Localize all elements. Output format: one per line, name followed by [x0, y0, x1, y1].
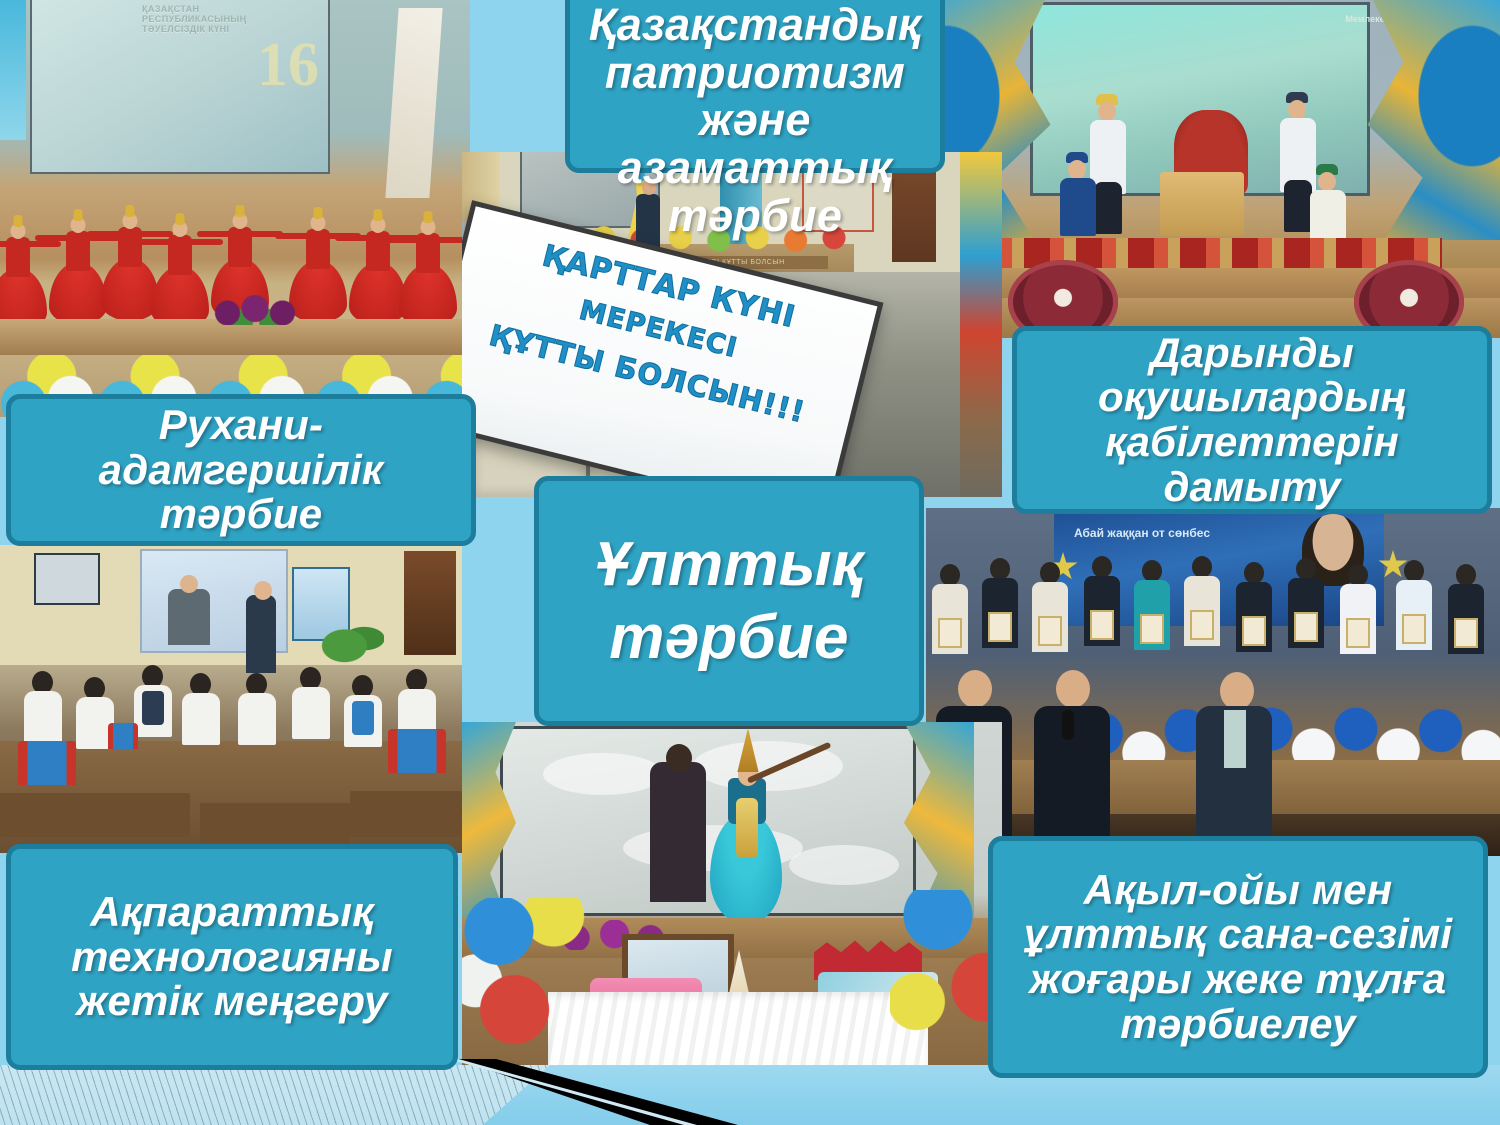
- card-talented-label: Дарынды оқушылардың қабілеттерін дамыту: [1027, 331, 1477, 509]
- projector-screen-dombra: [500, 726, 916, 916]
- projector-number: 16: [257, 30, 319, 101]
- presentation-slide: ҚАЗАҚСТАН РЕСПУБЛИКАСЫНЫҢ ТӘУЕЛСІЗДІК КҮ…: [0, 0, 1500, 1125]
- desk: [0, 793, 190, 837]
- photo-edge-strip: [960, 152, 1002, 497]
- award-banner-text: Абай жаққан от сөнбес: [1074, 524, 1304, 542]
- classroom-door: [404, 551, 456, 655]
- card-spiritual-moral-education[interactable]: Рухани-адамгершілік тәрбие: [6, 394, 476, 546]
- screen-figure-head: [180, 575, 198, 593]
- flag-left: [0, 0, 26, 140]
- card-patriotism[interactable]: Қазақстандық патриотизм және азаматтық т…: [565, 0, 945, 173]
- photo-dombra-performance: [462, 722, 1002, 1080]
- ornament-right: [1362, 0, 1500, 240]
- teacher-head: [254, 581, 272, 600]
- performer-ornament-plate: [736, 798, 758, 858]
- stage-table: [1160, 172, 1244, 236]
- screen-figure-body: [168, 589, 210, 645]
- wall-board-left: [34, 553, 100, 605]
- card-patriotism-label: Қазақстандық патриотизм және азаматтық т…: [560, 1, 950, 239]
- man-in-suit-body: [650, 762, 706, 902]
- flag-right: [385, 8, 442, 198]
- card-information-technology[interactable]: Ақпараттық технологияны жетік меңгеру: [6, 844, 458, 1070]
- book-stand: [108, 723, 138, 749]
- card-personality-development[interactable]: Ақыл-ойы мен ұлттық сана-сезімі жоғары ж…: [988, 836, 1488, 1078]
- balloon-cluster-right: [890, 890, 1002, 1070]
- microphone-icon: [1062, 710, 1074, 740]
- balloon-cluster-left: [462, 898, 590, 1078]
- desk: [350, 791, 462, 837]
- card-center-label: Ұлттық тәрбие: [549, 528, 909, 674]
- card-national-education-title[interactable]: Ұлттық тәрбие: [534, 476, 924, 726]
- book-stand: [388, 729, 446, 773]
- indoor-plant: [318, 617, 384, 665]
- slide-footer-hatch: [0, 1065, 550, 1125]
- book-stand: [18, 741, 76, 785]
- projector-screen-independence-day: ҚАЗАҚСТАН РЕСПУБЛИКАСЫНЫҢ ТӘУЕЛСІЗДІК КҮ…: [30, 0, 330, 174]
- card-personality-label: Ақыл-ойы мен ұлттық сана-сезімі жоғары ж…: [1003, 868, 1473, 1046]
- photo-girls-dance-on-stage: ҚАЗАҚСТАН РЕСПУБЛИКАСЫНЫҢ ТӘУЕЛСІЗДІК КҮ…: [0, 0, 470, 417]
- stage-flowers: [200, 295, 310, 325]
- photo-classroom-lesson: [0, 545, 462, 853]
- teacher-body: [246, 595, 276, 673]
- shirt: [1224, 710, 1246, 768]
- desk: [200, 803, 350, 845]
- card-talented-students[interactable]: Дарынды оқушылардың қабілеттерін дамыту: [1012, 326, 1492, 514]
- man-in-suit-head: [666, 744, 692, 772]
- card-it-label: Ақпараттық технологияны жетік меңгеру: [21, 890, 443, 1024]
- card-spiritual-label: Рухани-адамгершілік тәрбие: [21, 403, 461, 537]
- photo-award-ceremony: Абай жаққан от сөнбес: [926, 508, 1500, 856]
